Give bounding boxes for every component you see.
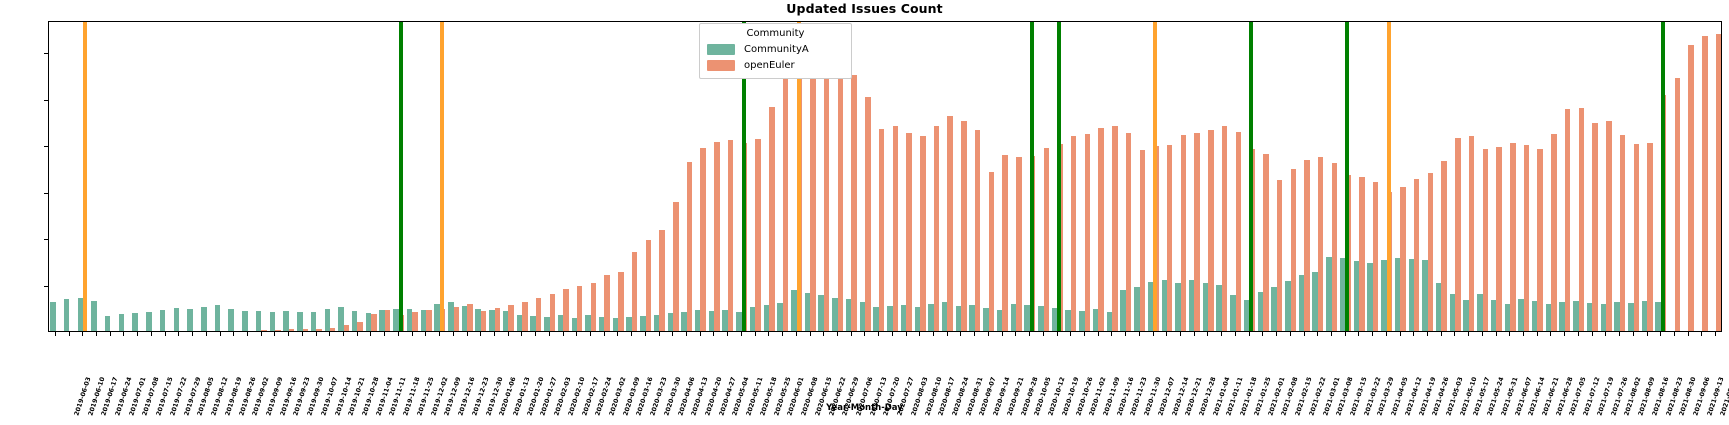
x-tick-mark	[1002, 332, 1003, 336]
x-tick-mark	[439, 332, 440, 336]
bar	[1332, 163, 1337, 331]
x-tick-mark	[178, 332, 179, 336]
bar	[1112, 126, 1117, 331]
x-tick-mark	[192, 332, 193, 336]
bar	[1071, 136, 1076, 331]
x-tick-mark	[247, 332, 248, 336]
x-tick-mark	[1619, 332, 1620, 336]
x-tick-mark	[220, 332, 221, 336]
x-tick-mark	[494, 332, 495, 336]
bar	[119, 314, 124, 331]
x-tick-mark	[1372, 332, 1373, 336]
x-tick-mark	[123, 332, 124, 336]
bar	[687, 162, 692, 331]
bar	[673, 202, 678, 331]
x-tick-mark	[810, 332, 811, 336]
bar	[1441, 161, 1446, 331]
bar	[316, 329, 321, 331]
x-tick-mark	[151, 332, 152, 336]
x-tick-mark	[1386, 332, 1387, 336]
bar	[508, 305, 513, 331]
bar	[865, 97, 870, 331]
bar	[1510, 143, 1515, 331]
x-tick-mark	[1015, 332, 1016, 336]
legend-label-openeuler: openEuler	[744, 60, 795, 71]
bar	[1565, 109, 1570, 331]
chart-figure: Updated Issues Count Updated Issues Coun…	[0, 0, 1729, 425]
x-tick-mark	[1153, 332, 1154, 336]
x-tick-mark	[1070, 332, 1071, 336]
x-tick-mark	[1427, 332, 1428, 336]
bar	[1140, 150, 1145, 331]
x-tick-mark	[1578, 332, 1579, 336]
x-tick-mark	[137, 332, 138, 336]
x-tick-mark	[82, 332, 83, 336]
bar	[728, 140, 733, 331]
event-line	[1387, 22, 1391, 331]
x-tick-mark	[563, 332, 564, 336]
bar	[879, 129, 884, 331]
x-tick-mark	[796, 332, 797, 336]
x-tick-mark	[617, 332, 618, 336]
bar	[714, 142, 719, 331]
x-tick-mark	[1304, 332, 1305, 336]
bar	[563, 289, 568, 331]
chart-title: Updated Issues Count	[0, 1, 1729, 16]
x-tick-mark	[713, 332, 714, 336]
x-tick-mark	[535, 332, 536, 336]
bar	[1675, 78, 1680, 331]
bar	[961, 121, 966, 331]
bar	[289, 329, 294, 331]
bar	[1620, 135, 1625, 331]
bar	[1579, 108, 1584, 331]
x-tick-mark	[906, 332, 907, 336]
x-tick-mark	[1701, 332, 1702, 336]
x-tick-mark	[974, 332, 975, 336]
bar	[989, 172, 994, 331]
bar	[1126, 133, 1131, 331]
bar	[303, 329, 308, 331]
x-tick-mark	[933, 332, 934, 336]
x-tick-mark	[1180, 332, 1181, 336]
bar	[824, 58, 829, 331]
bar	[242, 311, 247, 331]
x-tick-mark	[604, 332, 605, 336]
event-line	[1345, 22, 1349, 331]
bar	[1194, 133, 1199, 331]
bar	[1551, 134, 1556, 331]
bar	[591, 283, 596, 331]
bar	[1236, 132, 1241, 331]
legend-label-communitya: CommunityA	[744, 44, 809, 55]
x-tick-mark	[412, 332, 413, 336]
x-tick-mark	[878, 332, 879, 336]
x-tick-mark	[837, 332, 838, 336]
bar	[1222, 126, 1227, 331]
x-tick-mark	[480, 332, 481, 336]
bar	[160, 310, 165, 331]
bar	[1085, 134, 1090, 331]
bar	[146, 312, 151, 331]
bar	[1455, 138, 1460, 331]
bar	[522, 302, 527, 331]
event-line	[1153, 22, 1157, 331]
x-tick-mark	[206, 332, 207, 336]
event-line	[1249, 22, 1253, 331]
x-tick-mark	[755, 332, 756, 336]
x-tick-mark	[1537, 332, 1538, 336]
legend-swatch-communitya	[707, 44, 735, 55]
x-tick-mark	[645, 332, 646, 336]
x-tick-mark	[274, 332, 275, 336]
bar	[1716, 34, 1721, 331]
legend-item-openeuler[interactable]: openEuler	[707, 57, 844, 73]
bar	[659, 230, 664, 331]
bar	[201, 307, 206, 331]
bar	[1318, 157, 1323, 331]
x-tick-mark	[302, 332, 303, 336]
x-tick-mark	[768, 332, 769, 336]
event-line	[83, 22, 87, 331]
bar	[536, 298, 541, 331]
x-tick-mark	[1715, 332, 1716, 336]
bar	[357, 322, 362, 331]
bar	[646, 240, 651, 331]
x-tick-mark	[1235, 332, 1236, 336]
x-tick-mark	[316, 332, 317, 336]
x-tick-mark	[590, 332, 591, 336]
x-tick-mark	[851, 332, 852, 336]
bar	[810, 66, 815, 332]
x-tick-mark	[672, 332, 673, 336]
x-tick-mark	[1290, 332, 1291, 336]
x-tick-mark	[1660, 332, 1661, 336]
x-tick-mark	[398, 332, 399, 336]
bar	[467, 304, 472, 331]
bar	[1524, 145, 1529, 331]
bar	[755, 139, 760, 331]
event-line	[440, 22, 444, 331]
bar	[550, 294, 555, 331]
x-tick-mark	[1276, 332, 1277, 336]
bar	[495, 308, 500, 331]
x-tick-mark	[1509, 332, 1510, 336]
bar	[283, 311, 288, 331]
x-tick-mark	[1441, 332, 1442, 336]
x-tick-mark	[782, 332, 783, 336]
legend-item-communitya[interactable]: CommunityA	[707, 41, 844, 57]
bar	[1208, 130, 1213, 331]
bar	[851, 75, 856, 331]
bar	[1016, 157, 1021, 331]
legend-swatch-openeuler	[707, 60, 735, 71]
bar	[1428, 173, 1433, 331]
bar	[215, 305, 220, 331]
x-tick-mark	[425, 332, 426, 336]
x-tick-mark	[343, 332, 344, 336]
x-tick-mark	[1194, 332, 1195, 336]
x-tick-mark	[919, 332, 920, 336]
x-tick-mark	[576, 332, 577, 336]
bar	[275, 330, 280, 331]
x-tick-mark	[357, 332, 358, 336]
bar	[1592, 123, 1597, 331]
x-tick-mark	[96, 332, 97, 336]
bar	[1181, 135, 1186, 331]
bar	[632, 252, 637, 331]
x-tick-mark	[1468, 332, 1469, 336]
bar	[1359, 177, 1364, 331]
bar	[1263, 154, 1268, 331]
x-tick-mark	[1592, 332, 1593, 336]
bar	[618, 272, 623, 331]
legend-title: Community	[707, 28, 844, 39]
bar	[1044, 148, 1049, 331]
bar	[1002, 155, 1007, 331]
x-tick-mark	[1688, 332, 1689, 336]
bar	[50, 302, 55, 331]
x-tick-mark	[165, 332, 166, 336]
x-tick-mark	[521, 332, 522, 336]
x-tick-mark	[288, 332, 289, 336]
x-tick-mark	[384, 332, 385, 336]
x-tick-mark	[453, 332, 454, 336]
bar	[893, 126, 898, 331]
bar	[330, 328, 335, 331]
x-tick-mark	[549, 332, 550, 336]
bar	[700, 148, 705, 331]
bar	[1483, 149, 1488, 331]
x-axis-label: Year-Month-Day	[0, 403, 1729, 413]
x-tick-mark	[1345, 332, 1346, 336]
x-tick-mark	[1496, 332, 1497, 336]
x-tick-mark	[727, 332, 728, 336]
x-tick-mark	[1139, 332, 1140, 336]
x-tick-mark	[1523, 332, 1524, 336]
x-tick-mark	[261, 332, 262, 336]
bar	[1688, 45, 1693, 331]
x-tick-mark	[1647, 332, 1648, 336]
event-line	[399, 22, 403, 331]
bar	[1414, 179, 1419, 331]
x-tick-mark	[1550, 332, 1551, 336]
x-tick-mark	[1674, 332, 1675, 336]
bar	[261, 330, 266, 331]
bar	[604, 275, 609, 331]
x-tick-mark	[1111, 332, 1112, 336]
x-tick-mark	[1331, 332, 1332, 336]
x-tick-mark	[1084, 332, 1085, 336]
x-tick-mark	[960, 332, 961, 336]
x-tick-mark	[55, 332, 56, 336]
bar	[1647, 143, 1652, 331]
bar	[1304, 160, 1309, 331]
x-tick-mark	[1413, 332, 1414, 336]
bar	[454, 307, 459, 331]
x-tick-mark	[892, 332, 893, 336]
bar	[174, 308, 179, 331]
bar	[1496, 147, 1501, 331]
bar	[1702, 36, 1707, 331]
x-tick-mark	[1057, 332, 1058, 336]
bar	[769, 107, 774, 331]
event-line	[1661, 22, 1665, 331]
event-line	[1057, 22, 1061, 331]
bar	[1634, 144, 1639, 331]
x-tick-mark	[1482, 332, 1483, 336]
x-tick-mark	[1207, 332, 1208, 336]
x-tick-mark	[988, 332, 989, 336]
x-tick-mark	[864, 332, 865, 336]
x-tick-mark	[1400, 332, 1401, 336]
x-tick-mark	[947, 332, 948, 336]
x-tick-mark	[1166, 332, 1167, 336]
x-tick-mark	[329, 332, 330, 336]
bar	[1373, 182, 1378, 331]
bar	[132, 313, 137, 331]
bar	[783, 75, 788, 331]
bar	[577, 286, 582, 331]
bar	[481, 311, 486, 331]
bar	[91, 301, 96, 331]
x-tick-mark	[1043, 332, 1044, 336]
x-tick-mark	[1605, 332, 1606, 336]
bar	[426, 310, 431, 331]
bar	[920, 136, 925, 331]
bar	[228, 309, 233, 331]
x-tick-mark	[1633, 332, 1634, 336]
bar	[412, 312, 417, 331]
bar	[1400, 187, 1405, 331]
bar	[371, 314, 376, 331]
bar	[1537, 149, 1542, 331]
legend: Community CommunityA openEuler	[699, 23, 852, 79]
plot-area	[48, 21, 1722, 332]
bar	[1606, 121, 1611, 331]
x-tick-mark	[1454, 332, 1455, 336]
x-tick-mark	[370, 332, 371, 336]
x-tick-mark	[1125, 332, 1126, 336]
x-tick-mark	[1317, 332, 1318, 336]
x-tick-mark	[1221, 332, 1222, 336]
bar	[385, 310, 390, 331]
x-tick-mark	[69, 332, 70, 336]
bar	[838, 66, 843, 331]
bar	[906, 133, 911, 331]
x-tick-mark	[1358, 332, 1359, 336]
x-tick-mark	[110, 332, 111, 336]
x-tick-mark	[1249, 332, 1250, 336]
x-tick-mark	[700, 332, 701, 336]
bar	[975, 130, 980, 331]
bar	[256, 311, 261, 331]
x-tick-mark	[1262, 332, 1263, 336]
bar	[947, 116, 952, 331]
x-tick-mark	[467, 332, 468, 336]
bar	[1167, 145, 1172, 331]
x-tick-mark	[659, 332, 660, 336]
bar	[105, 316, 110, 331]
x-tick-mark	[631, 332, 632, 336]
x-tick-mark	[1564, 332, 1565, 336]
bar	[344, 325, 349, 331]
bar	[187, 309, 192, 331]
bar	[1469, 136, 1474, 331]
x-tick-mark	[508, 332, 509, 336]
x-tick-mark	[741, 332, 742, 336]
bar	[1291, 169, 1296, 331]
x-tick-mark	[233, 332, 234, 336]
x-tick-mark	[823, 332, 824, 336]
bar	[934, 126, 939, 331]
bar	[1277, 180, 1282, 331]
x-tick-mark	[1029, 332, 1030, 336]
x-tick-mark	[1098, 332, 1099, 336]
event-line	[1030, 22, 1034, 331]
x-tick-mark	[686, 332, 687, 336]
bar	[270, 312, 275, 331]
bar	[1098, 128, 1103, 331]
bar	[64, 299, 69, 331]
